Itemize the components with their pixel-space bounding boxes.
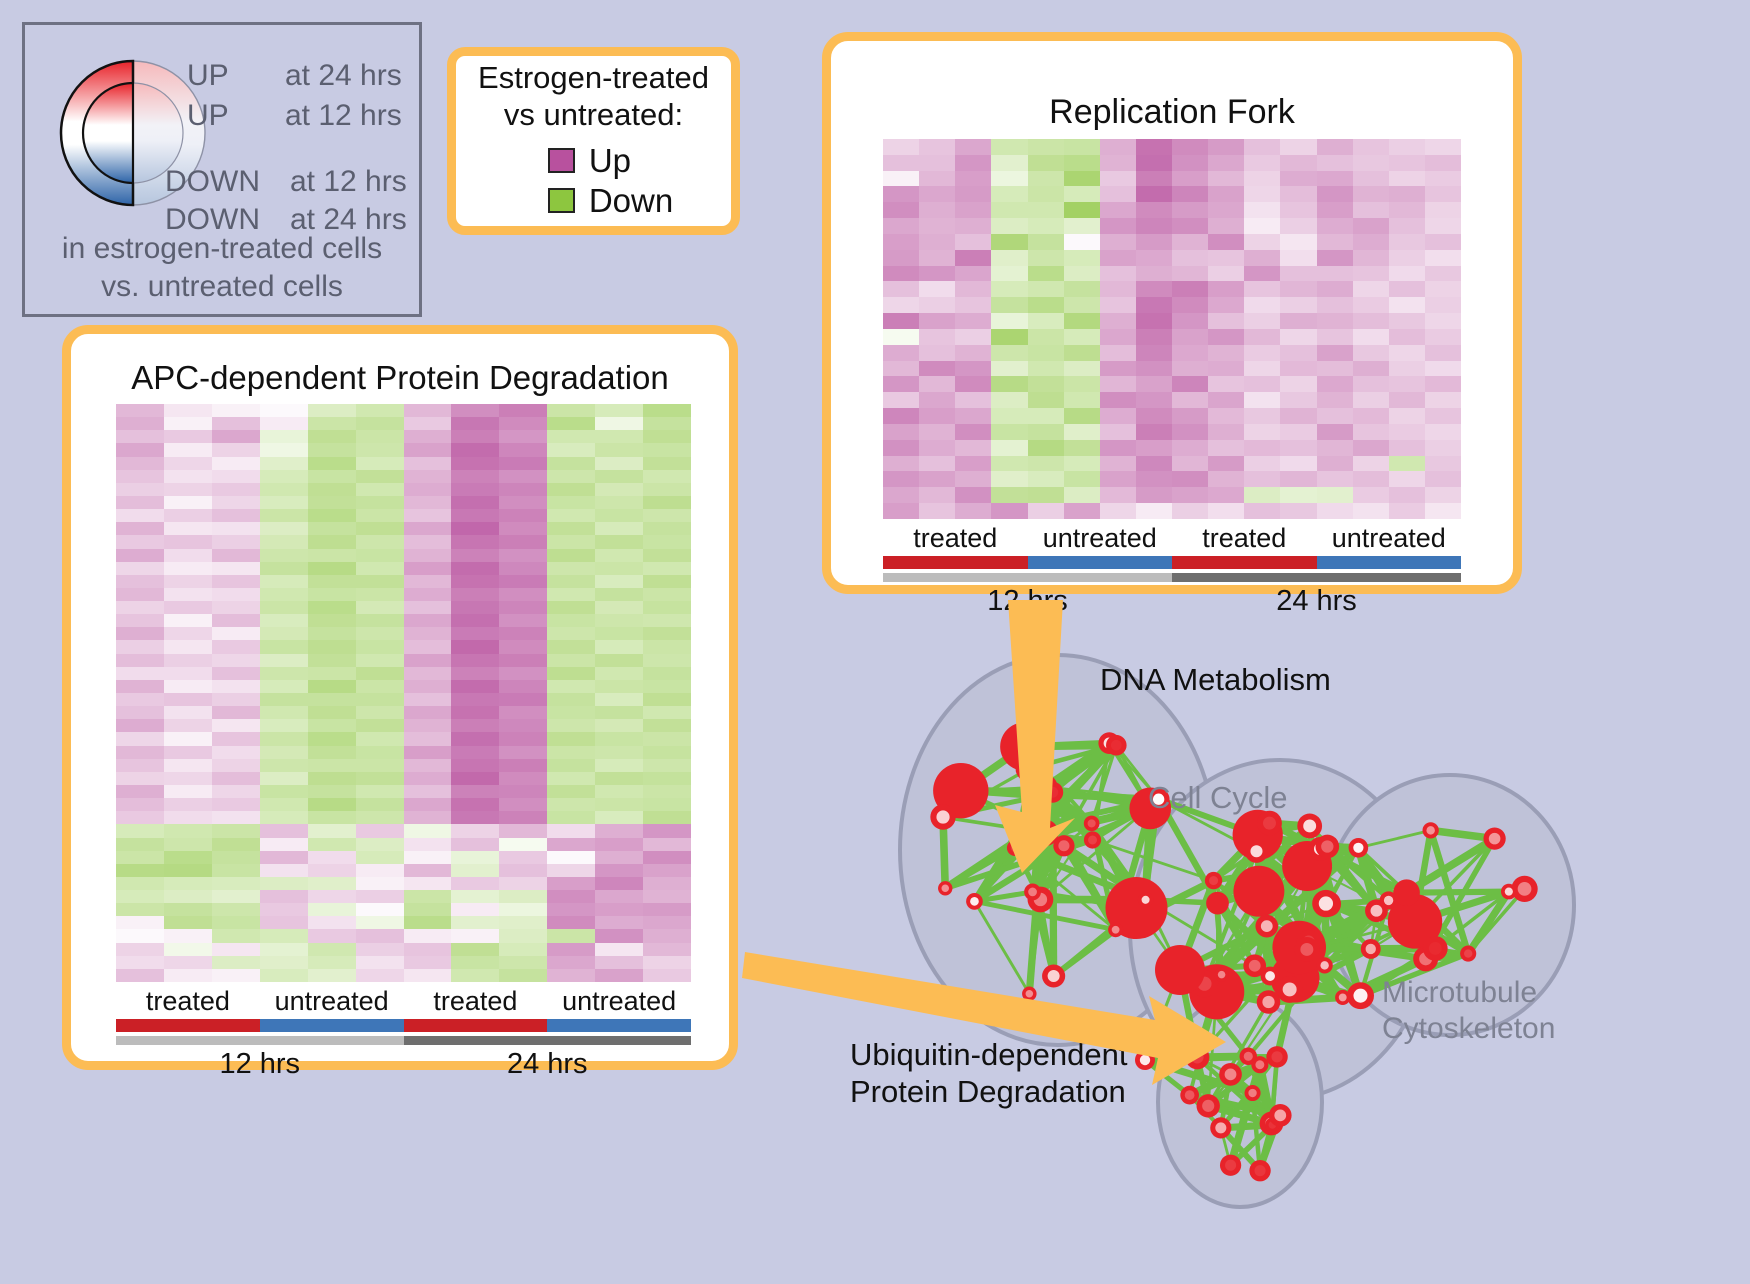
network-node[interactable] — [1219, 1063, 1242, 1086]
heatmap-cell — [116, 680, 164, 693]
heatmap-cell — [643, 470, 691, 483]
network-node[interactable] — [1460, 946, 1476, 962]
network-node[interactable] — [1483, 827, 1505, 849]
heatmap-cell — [1100, 408, 1136, 424]
heatmap-cell — [164, 562, 212, 575]
heatmap-cell — [1100, 234, 1136, 250]
network-node[interactable] — [1233, 866, 1284, 917]
heatmap-cell — [499, 614, 547, 627]
down-color-swatch — [548, 188, 575, 213]
heatmap-cell — [404, 877, 452, 890]
node-inner-fill — [1026, 990, 1034, 998]
heatmap-cell — [308, 430, 356, 443]
network-node[interactable] — [1257, 990, 1281, 1014]
heatmap-cell — [451, 811, 499, 824]
heatmap-cell — [499, 732, 547, 745]
heatmap-cell — [260, 614, 308, 627]
network-node[interactable] — [1317, 957, 1333, 973]
heatmap-cell — [404, 824, 452, 837]
heatmap-cell — [164, 601, 212, 614]
network-node[interactable] — [1393, 879, 1420, 906]
heatmap-cell — [1136, 424, 1172, 440]
heatmap-cell — [212, 667, 260, 680]
heatmap-cell — [1028, 139, 1064, 155]
heatmap-cell — [1100, 171, 1136, 187]
heatmap-cell — [643, 522, 691, 535]
heatmap-cell — [643, 916, 691, 929]
heatmap-cell — [643, 588, 691, 601]
heatmap-cell — [260, 798, 308, 811]
network-node[interactable] — [1245, 1085, 1261, 1101]
network-node[interactable] — [1210, 1117, 1231, 1138]
heatmap-cell — [883, 345, 919, 361]
heatmap-cell — [1064, 250, 1100, 266]
heatmap-cell — [547, 535, 595, 548]
heatmap-cell — [1064, 471, 1100, 487]
network-node[interactable] — [1108, 922, 1123, 937]
node-inner-fill — [1011, 844, 1019, 852]
heatmap-cell — [883, 234, 919, 250]
heatmap-cell — [451, 522, 499, 535]
heatmap-cell — [955, 266, 991, 282]
heatmap-cell — [1136, 376, 1172, 392]
heatmap-cell — [595, 640, 643, 653]
heatmap-cell — [1136, 487, 1172, 503]
heatmap-cell — [499, 549, 547, 562]
network-node[interactable] — [1255, 915, 1278, 938]
heatmap-cell — [1208, 313, 1244, 329]
network-node[interactable] — [1315, 835, 1339, 859]
heatmap-cell — [643, 719, 691, 732]
network-node[interactable] — [1249, 1160, 1270, 1181]
heatmap-cell — [308, 890, 356, 903]
heatmap-cell — [1136, 503, 1172, 519]
heatmap-cell — [451, 719, 499, 732]
heatmap-cell — [991, 471, 1027, 487]
heatmap-cell — [991, 329, 1027, 345]
network-node[interactable] — [1029, 785, 1051, 807]
heatmap-cell — [451, 838, 499, 851]
heatmap-cell — [164, 470, 212, 483]
heatmap-cell — [260, 470, 308, 483]
timepoint-bars-apc — [116, 1036, 691, 1045]
condition-bars-apc — [116, 1019, 691, 1032]
panel-replication-fork: Replication Fork treated untreated treat… — [822, 32, 1522, 594]
network-node[interactable] — [1084, 816, 1100, 832]
heatmap-cell — [1064, 345, 1100, 361]
heatmap-cell — [212, 785, 260, 798]
heatmap-cell — [595, 430, 643, 443]
heatmap-cell — [260, 667, 308, 680]
node-inner-fill — [1353, 989, 1367, 1003]
heatmap-cell — [643, 759, 691, 772]
heatmap-cell — [116, 601, 164, 614]
heatmap-cell — [356, 719, 404, 732]
heatmap-cell — [116, 864, 164, 877]
heatmap-cell — [1317, 171, 1353, 187]
heatmap-cell — [356, 588, 404, 601]
network-node[interactable] — [1294, 937, 1319, 962]
network-node[interactable] — [1106, 735, 1127, 756]
heatmap-cell — [643, 903, 691, 916]
heatmap-cell — [308, 824, 356, 837]
heatmap-cell — [260, 588, 308, 601]
network-node[interactable] — [1138, 892, 1153, 907]
heatmap-cell — [308, 732, 356, 745]
heatmap-cell — [1244, 313, 1280, 329]
heatmap-cell — [883, 297, 919, 313]
network-node[interactable] — [1206, 892, 1229, 915]
heatmap-cell — [451, 549, 499, 562]
network-node[interactable] — [1297, 814, 1322, 839]
heatmap-cell — [1172, 202, 1208, 218]
heatmap-cell — [451, 627, 499, 640]
network-node[interactable] — [1243, 954, 1266, 977]
network-node[interactable] — [1240, 1048, 1258, 1066]
network-node[interactable] — [1007, 840, 1023, 856]
heatmap-cell — [499, 864, 547, 877]
heatmap-cell — [308, 654, 356, 667]
heatmap-cell — [1389, 376, 1425, 392]
heatmap-cell — [595, 470, 643, 483]
heatmap-cell — [451, 706, 499, 719]
heatmap-cell — [451, 404, 499, 417]
heatmap-cell — [212, 903, 260, 916]
node-inner-fill — [1191, 1051, 1204, 1064]
heatmap-cell — [1425, 139, 1461, 155]
node-inner-fill — [1250, 845, 1262, 857]
condition-bars-rf — [883, 556, 1461, 569]
heatmap-cell — [1172, 424, 1208, 440]
cond-label-apc-2: treated — [404, 986, 548, 1017]
heatmap-cell — [595, 680, 643, 693]
heatmap-cell — [1353, 186, 1389, 202]
node-inner-fill — [1140, 1055, 1150, 1065]
network-node[interactable] — [930, 804, 955, 829]
heatmap-cell — [1100, 392, 1136, 408]
heatmap-cell — [356, 956, 404, 969]
heatmap-cell — [1317, 266, 1353, 282]
heatmap-cell — [356, 693, 404, 706]
heatmap-cell — [212, 496, 260, 509]
network-node[interactable] — [1016, 755, 1043, 782]
heatmap-cell — [1389, 234, 1425, 250]
network-node[interactable] — [1022, 987, 1036, 1001]
heatmap-cell — [1028, 281, 1064, 297]
heatmap-cell — [404, 575, 452, 588]
heatmap-cell — [451, 640, 499, 653]
heatmap-cell — [499, 509, 547, 522]
node-outer-ring — [1206, 892, 1229, 915]
network-diagram: DNA Metabolism Cell Cycle Microtubule Cy… — [790, 600, 1750, 1279]
heatmap-cell — [260, 404, 308, 417]
heatmap-cell — [1028, 487, 1064, 503]
heatmap-cell — [164, 877, 212, 890]
heatmap-cell — [499, 916, 547, 929]
heatmap-cell — [1136, 234, 1172, 250]
heatmap-cell — [260, 417, 308, 430]
heatmap-cell — [1208, 456, 1244, 472]
heatmap-cell — [595, 864, 643, 877]
heatmap-cell — [260, 627, 308, 640]
network-node[interactable] — [1042, 964, 1065, 987]
heatmap-cell — [883, 202, 919, 218]
heatmap-cell — [356, 404, 404, 417]
network-node[interactable] — [938, 881, 952, 895]
heatmap-cell — [919, 297, 955, 313]
heatmap-cell — [1136, 281, 1172, 297]
network-node[interactable] — [1205, 872, 1222, 889]
network-node[interactable] — [1312, 890, 1339, 917]
heatmap-cell — [547, 798, 595, 811]
network-node[interactable] — [1361, 939, 1381, 959]
heatmap-cell — [991, 408, 1027, 424]
heatmap-cell — [595, 851, 643, 864]
legend-label-up: Up — [589, 142, 631, 180]
heatmap-cell — [955, 345, 991, 361]
heatmap-cell — [404, 443, 452, 456]
heatmap-cell — [883, 471, 919, 487]
network-node[interactable] — [1423, 822, 1439, 838]
heatmap-cell — [1389, 250, 1425, 266]
heatmap-cell — [991, 361, 1027, 377]
heatmap-cell — [547, 588, 595, 601]
heatmap-cell — [260, 640, 308, 653]
heatmap-cell — [919, 456, 955, 472]
heatmap-cell — [1208, 202, 1244, 218]
heatmap-cell — [1425, 186, 1461, 202]
heatmap-cell — [1208, 392, 1244, 408]
heatmap-cell — [1353, 361, 1389, 377]
heatmap-cell — [356, 654, 404, 667]
heatmap-cell — [919, 202, 955, 218]
heatmap-cell — [451, 929, 499, 942]
heatmap-cell — [1136, 456, 1172, 472]
heatmap-cell — [260, 772, 308, 785]
ring-legend-caption: in estrogen-treated cells vs. untreated … — [25, 230, 419, 307]
heatmap-cell — [1389, 440, 1425, 456]
heatmap-cell — [499, 956, 547, 969]
heatmap-cell — [308, 404, 356, 417]
heatmap-cell — [451, 588, 499, 601]
heatmap-cell — [1028, 440, 1064, 456]
heatmap-cell — [1353, 329, 1389, 345]
heatmap-cell — [1244, 281, 1280, 297]
network-node[interactable] — [1214, 967, 1228, 981]
heatmap-cell — [1064, 424, 1100, 440]
updown-header-line1: Estrogen-treated — [478, 60, 709, 97]
heatmap-cell — [1280, 392, 1316, 408]
heatmap-cell — [404, 509, 452, 522]
heatmap-cell — [919, 218, 955, 234]
heatmap-cell — [547, 443, 595, 456]
network-node[interactable] — [1029, 816, 1048, 835]
heatmap-cell — [1280, 250, 1316, 266]
heatmap-cell — [451, 601, 499, 614]
heatmap-cell — [1353, 202, 1389, 218]
node-inner-fill — [1225, 1068, 1237, 1080]
network-node[interactable] — [1266, 1046, 1287, 1067]
node-inner-fill — [1142, 896, 1150, 904]
heatmap-cell — [356, 522, 404, 535]
node-inner-fill — [1321, 840, 1333, 852]
heatmap-cell — [1389, 186, 1425, 202]
heatmap-cell — [308, 522, 356, 535]
heatmap-cell — [212, 470, 260, 483]
condition-labels-rf: treated untreated treated untreated — [883, 523, 1461, 554]
time-bar-24hrs — [404, 1036, 692, 1045]
heatmap-cell — [1028, 186, 1064, 202]
network-node[interactable] — [1024, 884, 1041, 901]
heatmap-cell — [499, 706, 547, 719]
heatmap-cell — [308, 614, 356, 627]
heatmap-cell — [1208, 266, 1244, 282]
heatmap-cell — [212, 404, 260, 417]
network-node[interactable] — [1135, 1050, 1155, 1070]
heatmap-cell — [955, 155, 991, 171]
network-node[interactable] — [1347, 982, 1374, 1009]
heatmap-cell — [1244, 376, 1280, 392]
network-node[interactable] — [1220, 1155, 1241, 1176]
heatmap-cell — [1172, 313, 1208, 329]
heatmap-cell — [547, 457, 595, 470]
heatmap-cell — [404, 614, 452, 627]
heatmap-cell — [404, 430, 452, 443]
network-node[interactable] — [1180, 1086, 1199, 1105]
heatmap-cell — [1208, 471, 1244, 487]
heatmap-cell — [1208, 186, 1244, 202]
network-node[interactable] — [1423, 936, 1448, 961]
time-label-apc-24: 24 hrs — [404, 1048, 692, 1081]
cond-label-apc-1: untreated — [260, 986, 404, 1017]
network-node[interactable] — [1084, 831, 1101, 848]
heatmap-cell — [547, 838, 595, 851]
network-edge — [1407, 892, 1509, 893]
heatmap-cell — [116, 785, 164, 798]
heatmap-cell — [404, 929, 452, 942]
heatmap-cell — [499, 929, 547, 942]
heatmap-cell — [451, 969, 499, 982]
heatmap-cell — [595, 785, 643, 798]
heatmap-cell — [1389, 202, 1425, 218]
heatmap-replication-fork — [883, 139, 1461, 519]
heatmap-cell — [919, 424, 955, 440]
heatmap-cell — [404, 969, 452, 982]
heatmap-cell — [356, 470, 404, 483]
heatmap-cell — [164, 851, 212, 864]
network-node[interactable] — [1197, 1094, 1220, 1117]
heatmap-cell — [595, 838, 643, 851]
heatmap-cell — [164, 404, 212, 417]
heatmap-cell — [1028, 361, 1064, 377]
heatmap-cell — [404, 916, 452, 929]
heatmap-cell — [260, 759, 308, 772]
node-inner-fill — [1088, 819, 1096, 827]
heatmap-cell — [919, 281, 955, 297]
heatmap-cell — [1028, 471, 1064, 487]
network-node[interactable] — [966, 893, 983, 910]
time-bar-24hrs — [1172, 573, 1461, 582]
heatmap-cell — [356, 614, 404, 627]
network-node[interactable] — [1349, 838, 1369, 858]
heatmap-cell — [164, 549, 212, 562]
heatmap-cell — [1389, 313, 1425, 329]
heatmap-cell — [643, 693, 691, 706]
heatmap-cell — [919, 155, 955, 171]
heatmap-cell — [260, 719, 308, 732]
heatmap-cell — [308, 535, 356, 548]
heatmap-cell — [356, 890, 404, 903]
heatmap-cell — [499, 680, 547, 693]
heatmap-cell — [404, 601, 452, 614]
heatmap-cell — [404, 903, 452, 916]
heatmap-cell — [1389, 155, 1425, 171]
heatmap-cell — [991, 171, 1027, 187]
heatmap-cell — [260, 483, 308, 496]
heatmap-cell — [595, 496, 643, 509]
heatmap-cell — [1280, 361, 1316, 377]
node-inner-fill — [1244, 1052, 1253, 1061]
heatmap-cell — [1353, 281, 1389, 297]
heatmap-cell — [547, 693, 595, 706]
network-node[interactable] — [1501, 884, 1517, 900]
heatmap-cell — [499, 798, 547, 811]
heatmap-cell — [1425, 361, 1461, 377]
heatmap-cell — [308, 496, 356, 509]
panel-apc-degradation: APC-dependent Protein Degradation treate… — [62, 325, 738, 1070]
heatmap-cell — [260, 943, 308, 956]
heatmap-cell — [164, 824, 212, 837]
heatmap-cell — [1172, 171, 1208, 187]
heatmap-cell — [308, 903, 356, 916]
heatmap-cell — [212, 680, 260, 693]
heatmap-cell — [1389, 361, 1425, 377]
heatmap-cell — [1064, 171, 1100, 187]
heatmap-cell — [1208, 487, 1244, 503]
heatmap-cell — [308, 667, 356, 680]
network-node[interactable] — [1245, 840, 1268, 863]
heatmap-cell — [499, 693, 547, 706]
heatmap-cell — [1317, 313, 1353, 329]
heatmap-cell — [212, 627, 260, 640]
heatmap-cell — [404, 706, 452, 719]
network-node[interactable] — [1185, 1045, 1209, 1069]
heatmap-cell — [404, 417, 452, 430]
heatmap-cell — [1317, 297, 1353, 313]
heatmap-cell — [260, 430, 308, 443]
heatmap-cell — [356, 640, 404, 653]
heatmap-cell — [883, 218, 919, 234]
heatmap-cell — [499, 640, 547, 653]
heatmap-cell — [1100, 345, 1136, 361]
heatmap-cell — [883, 139, 919, 155]
network-node[interactable] — [1276, 976, 1303, 1003]
network-node[interactable] — [1269, 1104, 1292, 1127]
heatmap-cell — [308, 798, 356, 811]
heatmap-cell — [116, 496, 164, 509]
heatmap-cell — [499, 851, 547, 864]
heatmap-cell — [1280, 471, 1316, 487]
heatmap-cell — [1425, 218, 1461, 234]
heatmap-cell — [356, 877, 404, 890]
node-inner-fill — [1022, 762, 1036, 776]
network-node[interactable] — [1155, 945, 1205, 995]
node-inner-fill — [1371, 905, 1383, 917]
heatmap-apc-degradation — [116, 404, 691, 982]
heatmap-cell — [595, 746, 643, 759]
heatmap-cell — [1028, 408, 1064, 424]
time-label-apc-12: 12 hrs — [116, 1048, 404, 1081]
